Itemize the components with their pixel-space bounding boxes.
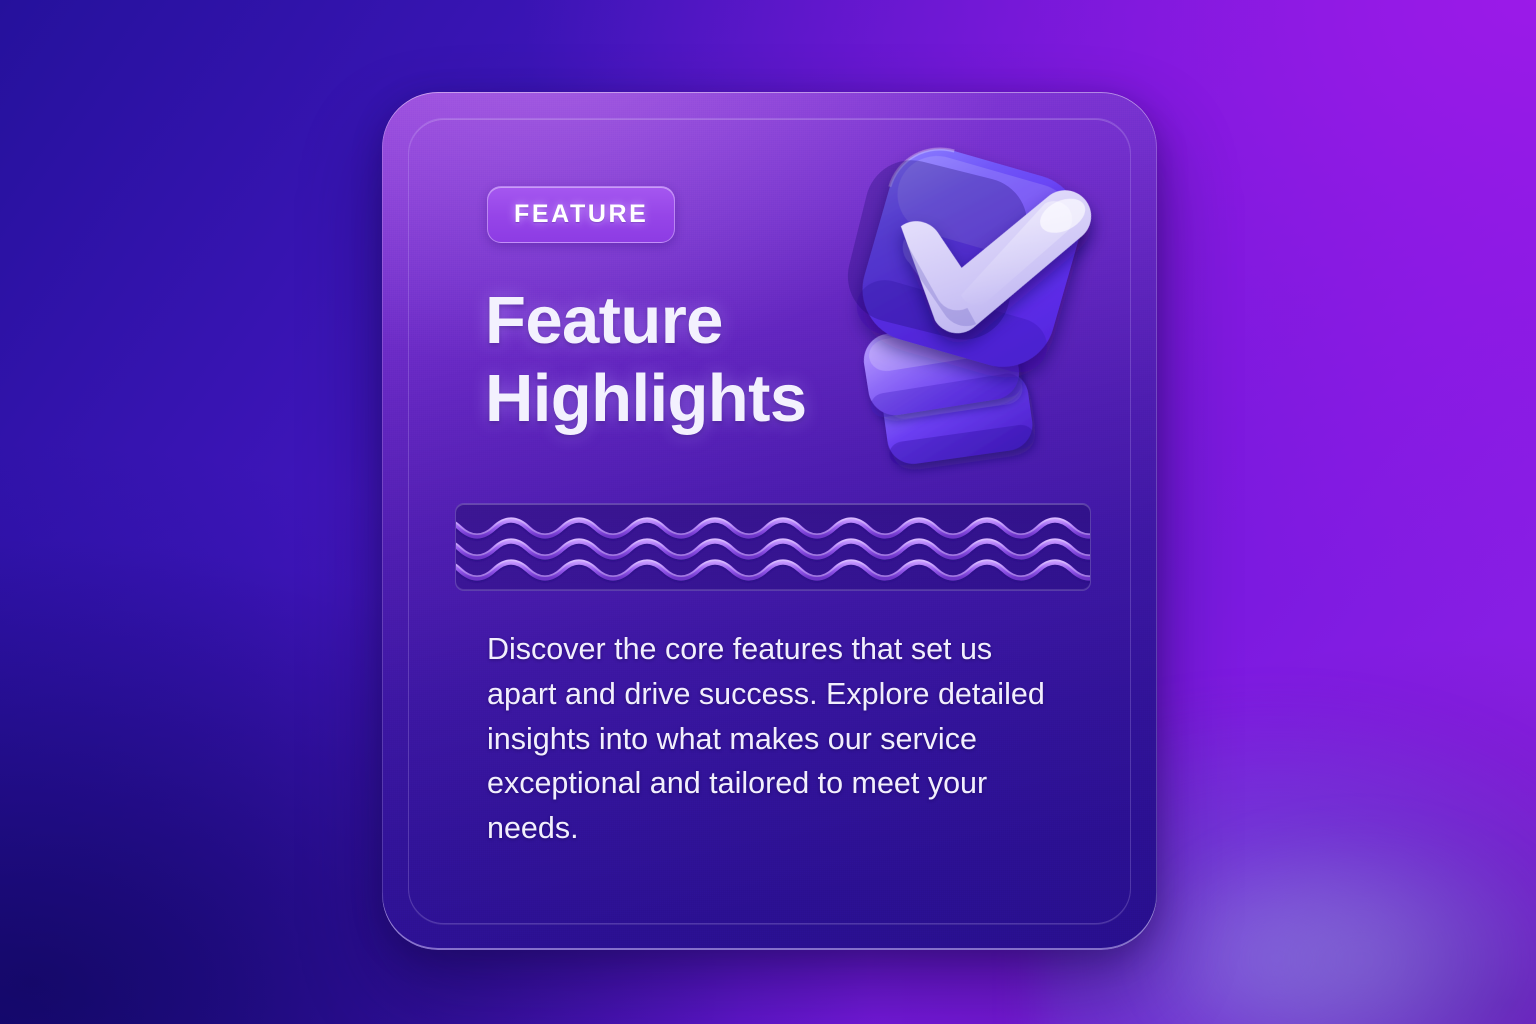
background-glow-secondary <box>1150 830 1536 1024</box>
card-title: Feature Highlights <box>485 282 915 437</box>
wave-pattern-strip <box>455 503 1091 591</box>
feature-badge-label: FEATURE <box>514 200 648 229</box>
card-title-line-1: Feature <box>485 282 915 360</box>
feature-badge[interactable]: FEATURE <box>487 186 675 243</box>
card-title-line-2: Highlights <box>485 360 915 438</box>
card-body-text: Discover the core features that set us a… <box>487 627 1057 851</box>
screenshot-stage: FEATURE Feature Highlights <box>0 0 1536 1024</box>
card-content: FEATURE Feature Highlights <box>382 92 1157 950</box>
feature-card[interactable]: FEATURE Feature Highlights <box>382 92 1157 950</box>
